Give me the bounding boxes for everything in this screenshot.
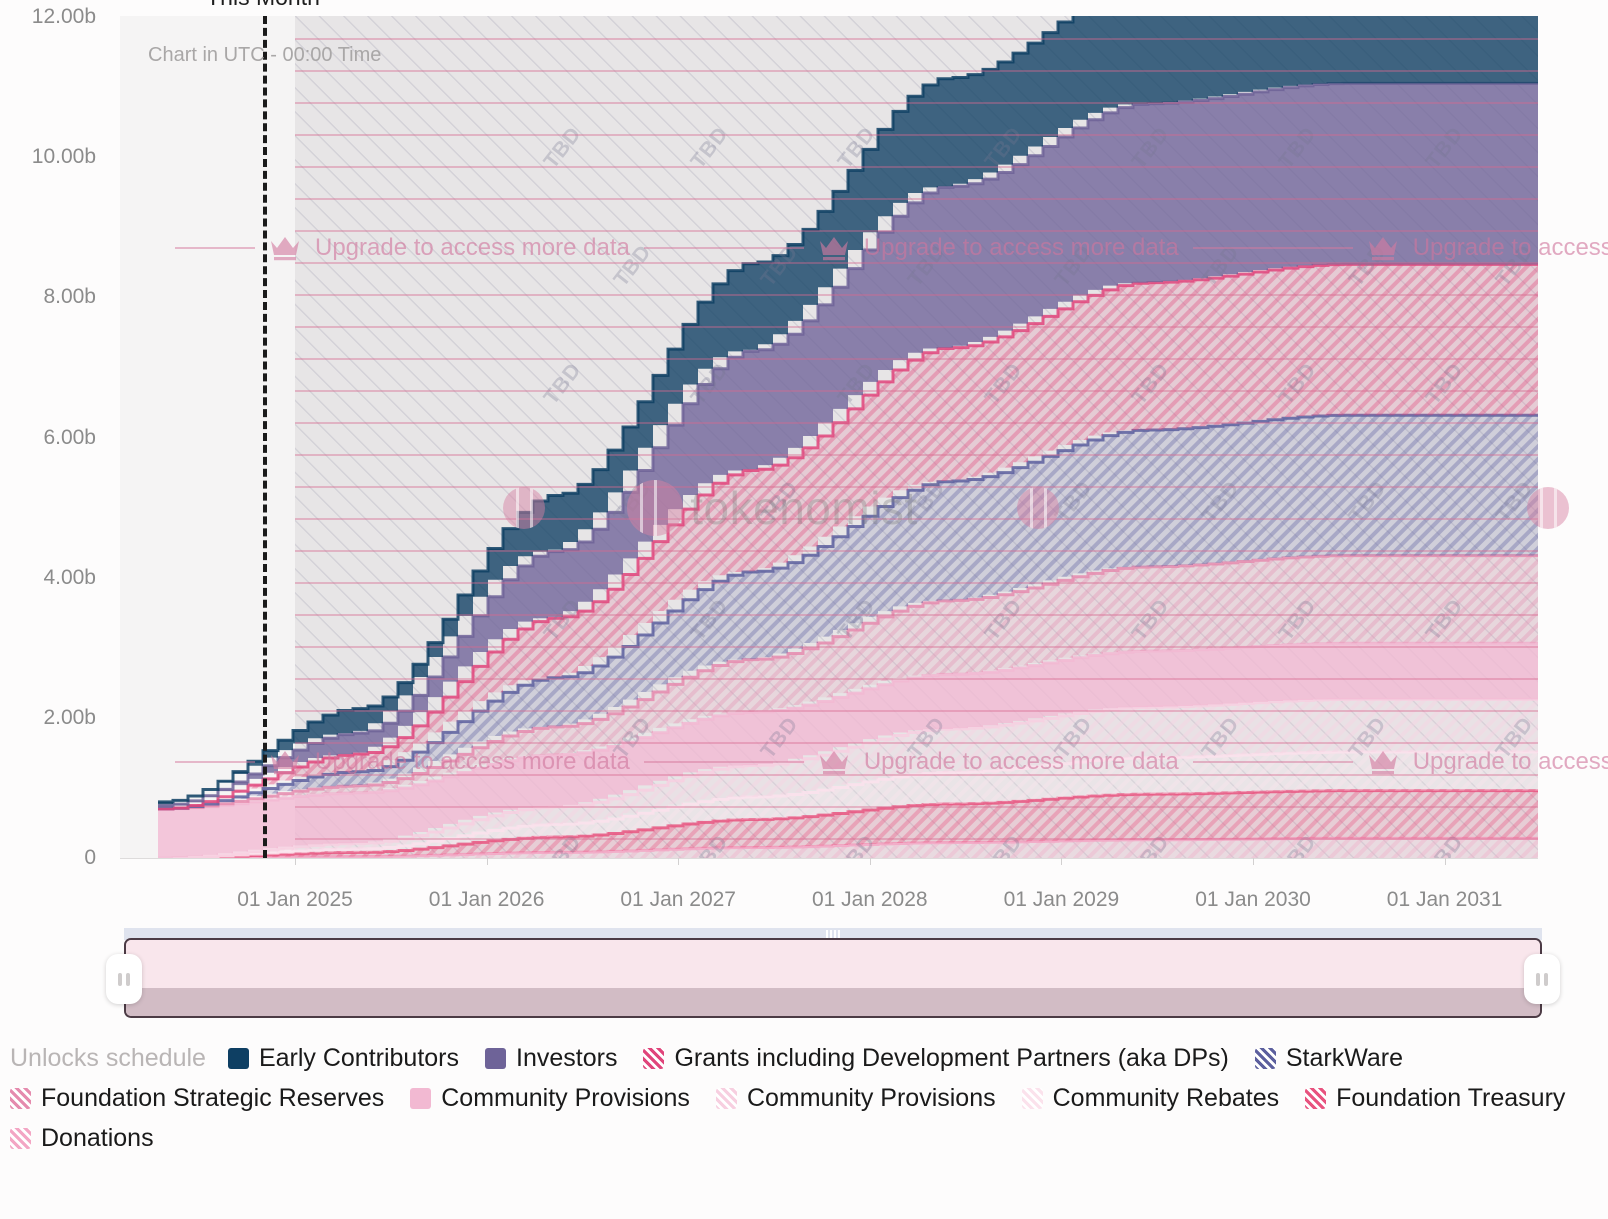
locked-rule-line [295, 550, 1538, 552]
locked-rule-line [295, 486, 1538, 488]
legend-item-label: Community Provisions [441, 1084, 690, 1113]
legend-item-donations[interactable]: Donations [10, 1124, 154, 1153]
x-axis-tick [870, 858, 871, 865]
locked-rule-line [295, 38, 1538, 40]
this-month-marker-line [263, 16, 267, 858]
legend-item-label: Early Contributors [259, 1044, 459, 1073]
legend-swatch [1022, 1088, 1043, 1109]
x-axis-tick [295, 858, 296, 865]
brush-selection-window[interactable] [124, 938, 1542, 1018]
chart-legend[interactable]: Unlocks schedule Early ContributorsInves… [0, 1044, 1608, 1153]
x-axis-line [120, 858, 1538, 859]
x-axis-label: 01 Jan 2025 [237, 888, 353, 912]
legend-item-label: StarkWare [1286, 1044, 1403, 1073]
legend-title: Unlocks schedule [10, 1044, 206, 1073]
locked-rule-line [295, 774, 1538, 776]
locked-rule-lines [120, 16, 1538, 858]
legend-swatch [1305, 1088, 1326, 1109]
x-axis-label: 01 Jan 2030 [1195, 888, 1311, 912]
legend-swatch [10, 1088, 31, 1109]
legend-swatch [716, 1088, 737, 1109]
legend-item-grants-including-development-partners-aka-dps[interactable]: Grants including Development Partners (a… [643, 1044, 1228, 1073]
x-axis-label: 01 Jan 2029 [1004, 888, 1120, 912]
brush-handle-right[interactable] [1524, 954, 1560, 1004]
locked-rule-line [295, 806, 1538, 808]
plot-body[interactable]: TBDTBDTBDTBDTBDTBDTBDTBDTBDTBDTBDTBDTBDT… [120, 16, 1538, 858]
this-month-label: This Month [206, 0, 320, 11]
brush-preview-band-bottom [126, 988, 1540, 1018]
legend-swatch [410, 1088, 431, 1109]
locked-rule-line [295, 518, 1538, 520]
locked-rule-line [295, 422, 1538, 424]
x-axis-tick [1445, 858, 1446, 865]
legend-item-foundation-treasury[interactable]: Foundation Treasury [1305, 1084, 1565, 1113]
x-axis-label: 01 Jan 2026 [429, 888, 545, 912]
brush-handle-left[interactable] [106, 954, 142, 1004]
x-axis-label: 01 Jan 2027 [620, 888, 736, 912]
legend-item-label: Foundation Strategic Reserves [41, 1084, 384, 1113]
legend-item-community-rebates[interactable]: Community Rebates [1022, 1084, 1279, 1113]
x-axis-label: 01 Jan 2028 [812, 888, 928, 912]
x-axis-tick [678, 858, 679, 865]
legend-item-investors[interactable]: Investors [485, 1044, 617, 1073]
x-axis-tick [1253, 858, 1254, 865]
range-brush[interactable] [124, 928, 1542, 1018]
legend-swatch [643, 1048, 664, 1069]
legend-item-label: Foundation Treasury [1336, 1084, 1565, 1113]
legend-item-label: Grants including Development Partners (a… [674, 1044, 1228, 1073]
locked-rule-line [295, 262, 1538, 264]
locked-rule-line [295, 166, 1538, 168]
legend-swatch [1255, 1048, 1276, 1069]
legend-item-label: Community Provisions [747, 1084, 996, 1113]
legend-item-foundation-strategic-reserves[interactable]: Foundation Strategic Reserves [10, 1084, 384, 1113]
locked-rule-line [295, 678, 1538, 680]
locked-rule-line [295, 742, 1538, 744]
legend-swatch [485, 1048, 506, 1069]
locked-rule-line [295, 646, 1538, 648]
x-axis-tick [1061, 858, 1062, 865]
tokenomics-unlock-chart-page: 12.00b10.00b8.00b6.00b4.00b2.00b0 TBDTBD… [0, 0, 1608, 1219]
locked-rule-line [295, 102, 1538, 104]
legend-item-label: Investors [516, 1044, 617, 1073]
locked-rule-line [295, 230, 1538, 232]
locked-rule-line [295, 838, 1538, 840]
brush-drag-grip-icon[interactable] [826, 930, 840, 938]
legend-swatch [10, 1128, 31, 1149]
y-axis-label: 10.00b [0, 145, 96, 169]
legend-item-label: Donations [41, 1124, 154, 1153]
chart-area[interactable]: 12.00b10.00b8.00b6.00b4.00b2.00b0 TBDTBD… [0, 0, 1608, 912]
y-axis-label: 6.00b [0, 426, 96, 450]
locked-rule-line [295, 710, 1538, 712]
locked-rule-line [295, 134, 1538, 136]
locked-rule-line [295, 614, 1538, 616]
legend-item-label: Community Rebates [1053, 1084, 1279, 1113]
locked-rule-line [295, 70, 1538, 72]
y-axis-label: 0 [0, 846, 96, 870]
locked-rule-line [295, 390, 1538, 392]
legend-item-community-provisions[interactable]: Community Provisions [716, 1084, 996, 1113]
brush-preview-band-top [126, 940, 1540, 988]
locked-rule-line [295, 326, 1538, 328]
locked-rule-line [295, 294, 1538, 296]
locked-rule-line [295, 358, 1538, 360]
y-axis-label: 2.00b [0, 706, 96, 730]
locked-rule-line [295, 454, 1538, 456]
y-axis-label: 12.00b [0, 5, 96, 29]
y-axis-label: 4.00b [0, 566, 96, 590]
legend-item-starkware[interactable]: StarkWare [1255, 1044, 1403, 1073]
y-axis-label: 8.00b [0, 285, 96, 309]
legend-swatch [228, 1048, 249, 1069]
x-axis-tick [487, 858, 488, 865]
locked-rule-line [295, 582, 1538, 584]
x-axis-label: 01 Jan 2031 [1387, 888, 1503, 912]
locked-rule-line [295, 198, 1538, 200]
legend-item-early-contributors[interactable]: Early Contributors [228, 1044, 459, 1073]
utc-timezone-note: Chart in UTC - 00:00 Time [148, 44, 381, 67]
legend-item-community-provisions[interactable]: Community Provisions [410, 1084, 690, 1113]
